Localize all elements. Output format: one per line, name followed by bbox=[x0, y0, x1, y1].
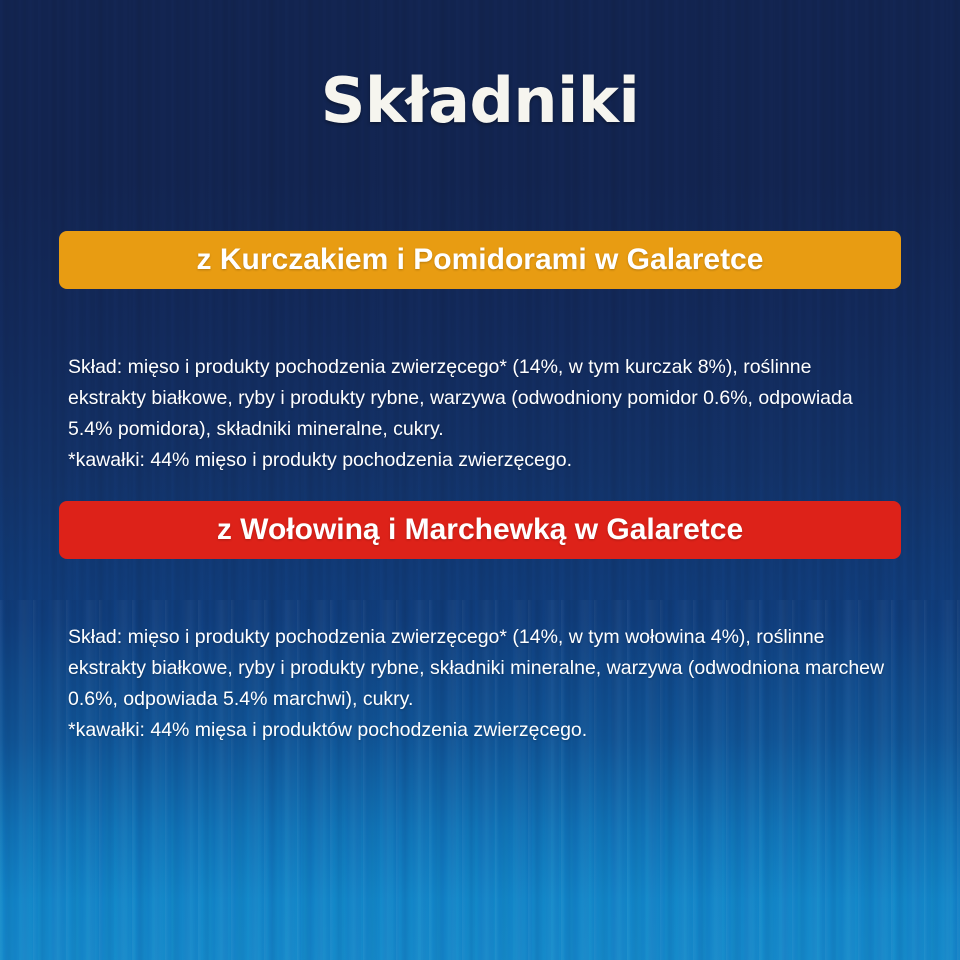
ingredients-body-chicken: Skład: mięso i produkty pochodzenia zwie… bbox=[68, 356, 853, 440]
section-beef: z Wołowiną i Marchewką w Galaretce Skład… bbox=[59, 501, 901, 777]
ingredients-body-beef: Skład: mięso i produkty pochodzenia zwie… bbox=[68, 626, 884, 710]
page-title: Składniki bbox=[0, 66, 960, 136]
ingredients-footnote-chicken: *kawałki: 44% mięso i produkty pochodzen… bbox=[68, 445, 888, 476]
section-header-label-beef: z Wołowiną i Marchewką w Galaretce bbox=[217, 513, 743, 547]
section-header-label-chicken: z Kurczakiem i Pomidorami w Galaretce bbox=[197, 243, 764, 277]
ingredients-infographic: Składniki z Kurczakiem i Pomidorami w Ga… bbox=[0, 0, 960, 960]
ingredients-text-chicken: Skład: mięso i produkty pochodzenia zwie… bbox=[68, 321, 888, 507]
section-header-bar-beef: z Wołowiną i Marchewką w Galaretce bbox=[59, 501, 901, 559]
section-header-bar-chicken: z Kurczakiem i Pomidorami w Galaretce bbox=[59, 231, 901, 289]
ingredients-footnote-beef: *kawałki: 44% mięsa i produktów pochodze… bbox=[68, 715, 888, 746]
section-chicken: z Kurczakiem i Pomidorami w Galaretce Sk… bbox=[59, 231, 901, 507]
ingredients-text-beef: Skład: mięso i produkty pochodzenia zwie… bbox=[68, 591, 888, 777]
